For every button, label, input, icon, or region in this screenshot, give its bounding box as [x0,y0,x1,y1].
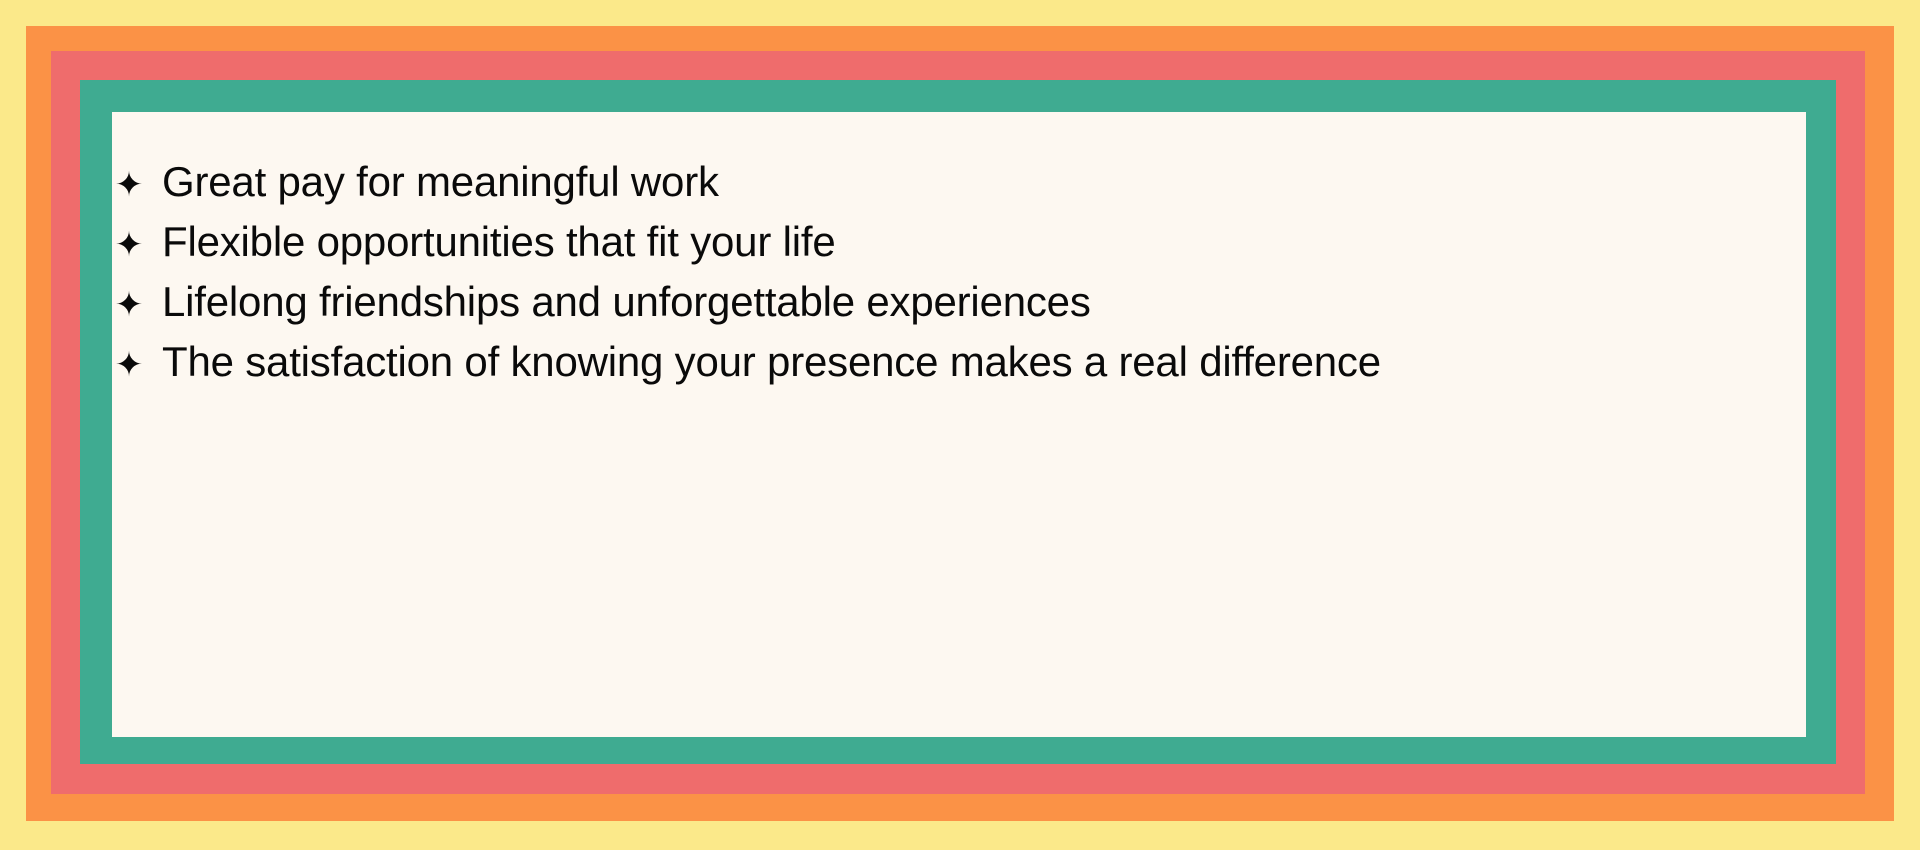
list-item: ✦ Lifelong friendships and unforgettable… [112,272,1672,332]
benefits-bullet-list: ✦ Great pay for meaningful work ✦ Flexib… [112,152,1672,392]
outer-yellow-frame [0,0,1920,850]
list-item: ✦ Flexible opportunities that fit your l… [112,212,1672,272]
list-item-label: The satisfaction of knowing your presenc… [162,332,1381,392]
list-item: ✦ The satisfaction of knowing your prese… [112,332,1672,392]
four-pointed-star-icon: ✦ [112,155,146,215]
four-pointed-star-icon: ✦ [112,275,146,335]
list-item: ✦ Great pay for meaningful work [112,152,1672,212]
orange-frame-band [26,26,1894,821]
four-pointed-star-icon: ✦ [112,215,146,275]
list-item-label: Flexible opportunities that fit your lif… [162,212,835,272]
list-item-label: Lifelong friendships and unforgettable e… [162,272,1091,332]
four-pointed-star-icon: ✦ [112,335,146,395]
list-item-label: Great pay for meaningful work [162,152,719,212]
